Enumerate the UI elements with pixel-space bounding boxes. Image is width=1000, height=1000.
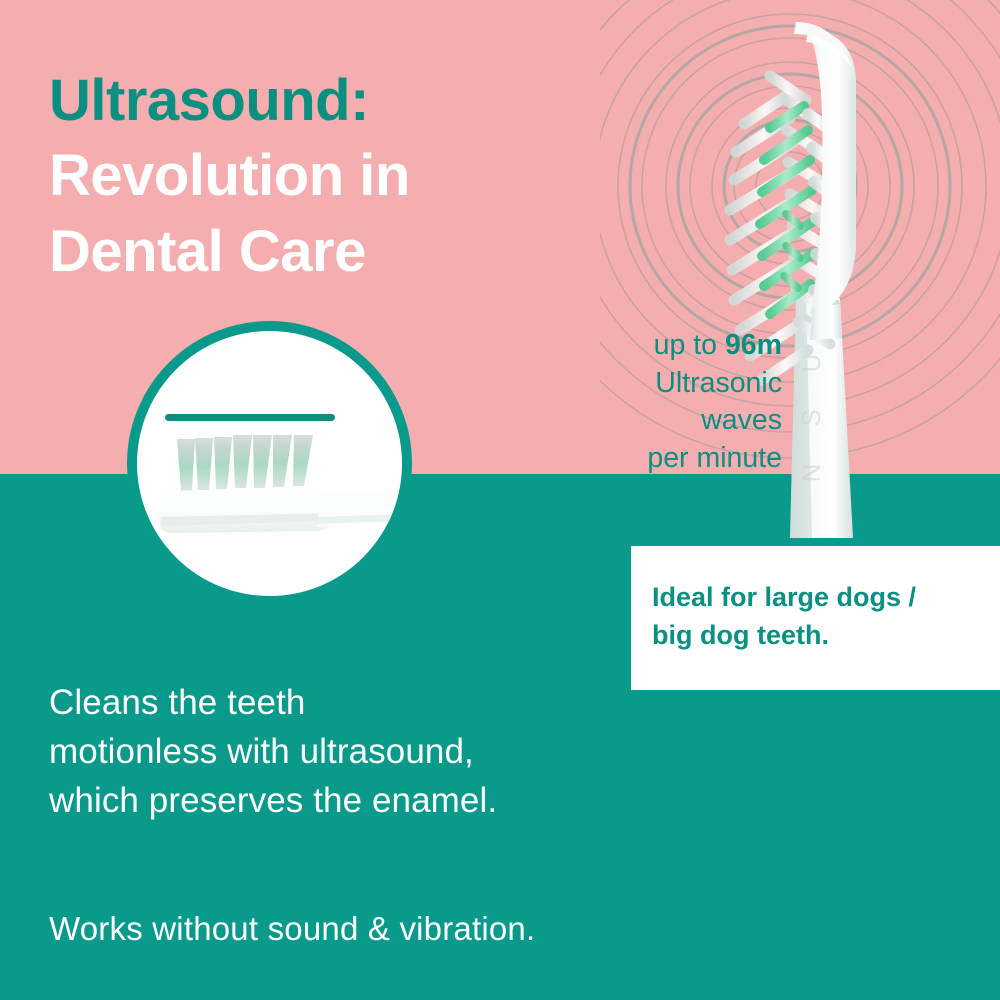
- callout-box: Ideal for large dogs / big dog teeth.: [631, 546, 1000, 690]
- waves-caption-line-2: Ultrasonic: [522, 365, 782, 403]
- headline-line-1: Ultrasound:: [49, 63, 589, 138]
- waves-caption-prefix: up to: [654, 329, 725, 361]
- headline-line-2: Revolution in: [49, 138, 589, 213]
- footer-copy: Works without sound & vibration.: [49, 908, 769, 951]
- waves-caption-line-1: up to 96m: [522, 327, 782, 365]
- headline-line-3: Dental Care: [49, 214, 589, 289]
- callout-line-1: Ideal for large dogs /: [652, 579, 987, 617]
- waves-caption-line-4: per minute: [522, 440, 782, 478]
- page-title: Ultrasound: Revolution in Dental Care: [49, 63, 589, 289]
- callout-text: Ideal for large dogs / big dog teeth.: [652, 579, 987, 655]
- waves-caption-line-3: waves: [522, 402, 782, 440]
- teal-divider-line-icon: [165, 414, 335, 421]
- body-copy: Cleans the teeth motionless with ultraso…: [49, 678, 669, 825]
- body-copy-line-2: motionless with ultrasound,: [49, 727, 669, 776]
- ultrasonic-waves-caption: up to 96m Ultrasonic waves per minute: [522, 327, 782, 477]
- callout-line-2: big dog teeth.: [652, 617, 987, 655]
- toothbrush-head-side-view-icon: [127, 321, 412, 606]
- body-copy-line-3: which preserves the enamel.: [49, 776, 669, 825]
- waves-caption-value: 96m: [725, 329, 782, 361]
- body-copy-line-1: Cleans the teeth: [49, 678, 669, 727]
- product-infographic-poster: Ultrasound: Revolution in Dental Care: [0, 0, 1000, 1000]
